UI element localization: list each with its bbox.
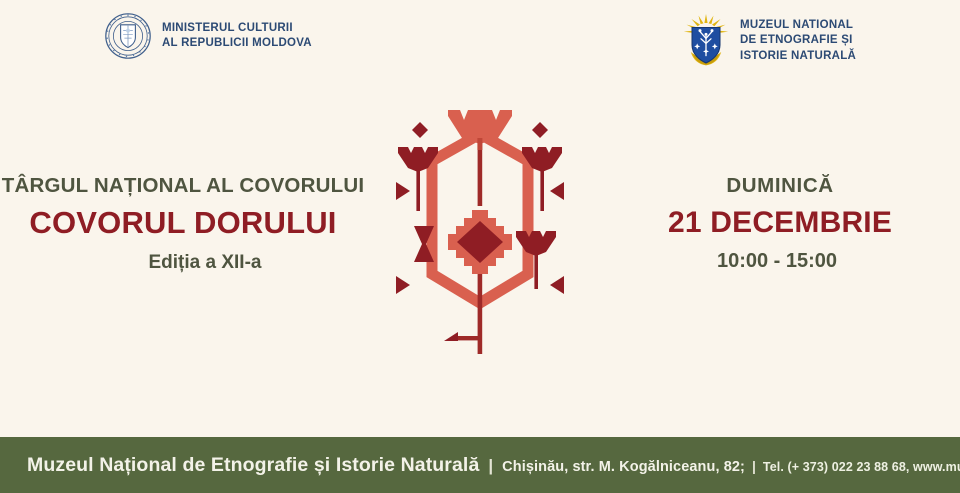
footer-separator-1: | bbox=[479, 456, 502, 476]
page-title: COVORUL DORULUI bbox=[0, 204, 366, 242]
museum-line-1: MUZEUL NATIONAL bbox=[740, 18, 856, 33]
motif-lower-stem bbox=[478, 274, 483, 354]
ministry-line-1: MINISTERUL CULTURII bbox=[162, 21, 312, 36]
footer-address: Chișinău, str. M. Kogălniceanu, 82; bbox=[502, 459, 745, 475]
event-info-block: TÂRGUL NAȚIONAL AL COVORULUI COVORUL DOR… bbox=[0, 174, 366, 275]
event-hours: 10:00 - 15:00 bbox=[594, 249, 960, 273]
event-weekday: DUMINICĂ bbox=[600, 174, 960, 199]
footer-contact: Tel. (+ 373) 022 23 88 68, www.muzeu.md bbox=[763, 460, 960, 474]
ministry-logo-block: MINISTERUL CULTURII AL REPUBLICII MOLDOV… bbox=[104, 12, 312, 60]
motif-bottom-triangle bbox=[444, 332, 458, 341]
event-date: 21 DECEMBRIE bbox=[600, 205, 960, 241]
event-edition: Ediția a XII-a bbox=[44, 252, 366, 275]
poster-main: TÂRGUL NAȚIONAL AL COVORULUI COVORUL DOR… bbox=[0, 88, 960, 437]
museum-logo-block: MUZEUL NATIONAL DE ETNOGRAFIE ȘI ISTORIE… bbox=[681, 12, 856, 70]
poster-footer: Muzeul Național de Etnografie și Istorie… bbox=[0, 437, 960, 493]
museum-line-2: DE ETNOGRAFIE ȘI bbox=[740, 33, 856, 48]
event-poster: MINISTERUL CULTURII AL REPUBLICII MOLDOV… bbox=[0, 0, 960, 493]
museum-coat-of-arms-icon bbox=[681, 12, 731, 70]
motif-central-medallion bbox=[448, 210, 512, 274]
ministry-logo-text: MINISTERUL CULTURII AL REPUBLICII MOLDOV… bbox=[162, 21, 312, 52]
event-kicker: TÂRGUL NAȚIONAL AL COVORULUI bbox=[0, 174, 366, 198]
moldovan-carpet-motif bbox=[372, 98, 588, 364]
footer-content: Muzeul Național de Etnografie și Istorie… bbox=[0, 454, 960, 477]
museum-logo-text: MUZEUL NATIONAL DE ETNOGRAFIE ȘI ISTORIE… bbox=[740, 18, 856, 64]
ministry-of-culture-seal-icon bbox=[104, 12, 152, 60]
footer-separator-2: | bbox=[745, 458, 763, 474]
footer-museum-name: Muzeul Național de Etnografie și Istorie… bbox=[27, 454, 479, 477]
museum-line-3: ISTORIE NATURALĂ bbox=[740, 49, 856, 64]
poster-header: MINISTERUL CULTURII AL REPUBLICII MOLDOV… bbox=[0, 0, 960, 88]
motif-bottom-crossbar bbox=[456, 336, 482, 340]
event-date-block: DUMINICĂ 21 DECEMBRIE 10:00 - 15:00 bbox=[600, 174, 960, 273]
ministry-line-2: AL REPUBLICII MOLDOVA bbox=[162, 36, 312, 51]
